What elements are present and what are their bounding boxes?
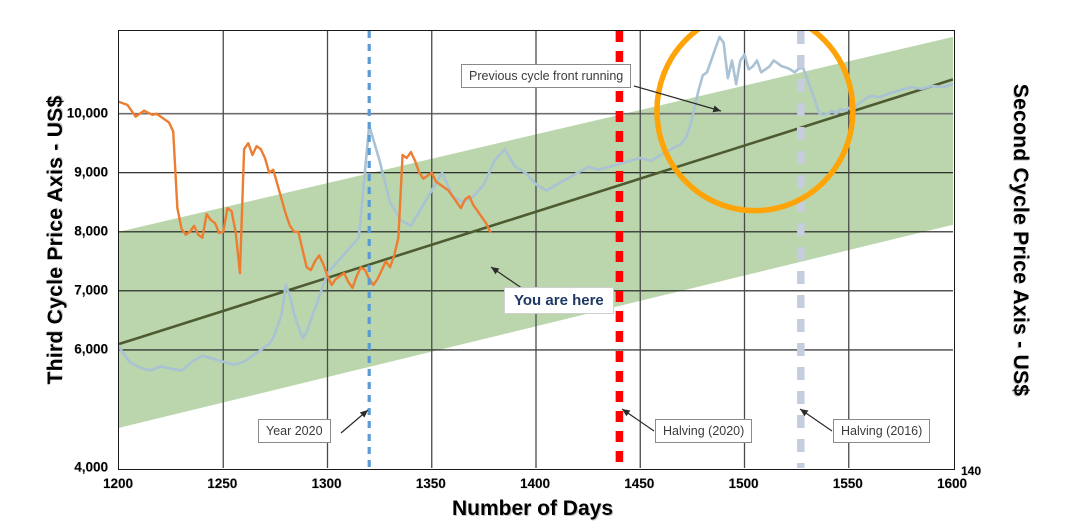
y-tick-label: 9,000 <box>74 164 108 179</box>
x-tick-label: 1450 <box>624 476 654 491</box>
x-tick-label: 1400 <box>520 476 550 491</box>
arrow-halving-2016 <box>800 409 832 431</box>
y-axis-tick-labels: 4,0006,0007,0008,0009,00010,000 <box>0 0 113 532</box>
arrow-year-2020 <box>341 410 368 433</box>
y-tick-label: 4,000 <box>74 460 108 475</box>
x-tick-label: 1300 <box>311 476 341 491</box>
plot-area <box>118 30 955 470</box>
x-tick-label: 1500 <box>728 476 758 491</box>
x-tick-label: 1550 <box>833 476 863 491</box>
callout-halving-2020: Halving (2020) <box>655 419 752 443</box>
x-tick-label: 1600 <box>937 476 967 491</box>
x-tick-label: 1250 <box>207 476 237 491</box>
callout-previous-cycle-front-running: Previous cycle front running <box>461 64 631 88</box>
y-tick-label: 6,000 <box>74 341 108 356</box>
x-tick-label: 1350 <box>416 476 446 491</box>
callout-you-are-here: You are here <box>504 287 614 314</box>
arrow-halving-2020 <box>622 409 654 431</box>
callout-year-2020: Year 2020 <box>258 419 331 443</box>
y-tick-label: 7,000 <box>74 282 108 297</box>
chart-root: Third Cycle Price Axis - US$ Second Cycl… <box>0 0 1065 532</box>
x-axis-title: Number of Days <box>0 497 1065 521</box>
callout-halving-2016: Halving (2016) <box>833 419 930 443</box>
y-tick-label: 8,000 <box>74 223 108 238</box>
y-tick-label: 10,000 <box>67 105 108 120</box>
x-tick-label: 1200 <box>103 476 133 491</box>
right-axis-title: Second Cycle Price Axis - US$ <box>1008 30 1032 450</box>
chart-canvas <box>119 31 953 468</box>
right-axis-partial-tick: 140 <box>961 464 981 478</box>
